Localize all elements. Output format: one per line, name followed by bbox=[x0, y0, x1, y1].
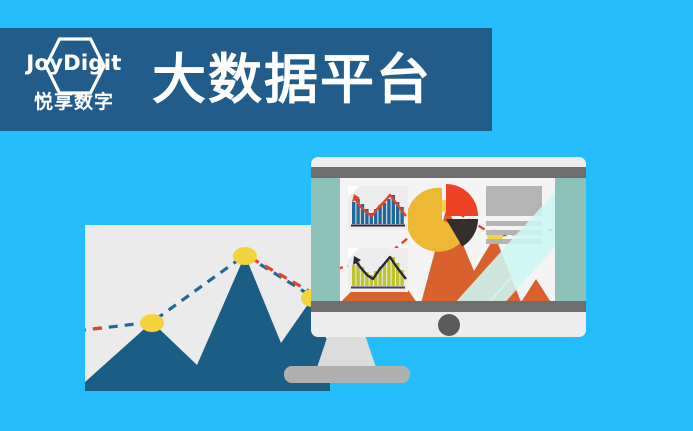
monitor-top-bar bbox=[311, 167, 586, 178]
desktop-monitor bbox=[311, 157, 586, 337]
axis-line-olive bbox=[351, 287, 405, 289]
bar-line-card-olive bbox=[348, 248, 408, 292]
card-fold-corner bbox=[348, 186, 359, 197]
trend-line-left-red-tail-a bbox=[85, 328, 101, 331]
screen-side-panel-right bbox=[555, 178, 586, 307]
axis-line-blue bbox=[351, 225, 405, 227]
placeholder-line-1 bbox=[486, 221, 542, 226]
document-placeholder bbox=[486, 186, 542, 244]
data-marker-left-1 bbox=[140, 314, 164, 332]
brand-logo: JoyDigit 悦享数字 bbox=[14, 37, 134, 123]
logo-subtitle: 悦享数字 bbox=[14, 87, 134, 114]
logo-wordmark: JoyDigit bbox=[14, 51, 134, 75]
monitor-power-button[interactable] bbox=[438, 314, 460, 336]
screen-content bbox=[340, 178, 555, 307]
trend-line-left bbox=[85, 255, 330, 331]
monitor-screen bbox=[311, 178, 586, 307]
card-fold-corner bbox=[348, 248, 359, 259]
data-marker-left-2 bbox=[233, 247, 257, 265]
illustration-canvas: JoyDigit 悦享数字 大数据平台 bbox=[0, 0, 693, 431]
pie-slice-red bbox=[446, 184, 478, 216]
monitor-stand-base bbox=[284, 366, 410, 383]
bar-line-card-blue bbox=[348, 186, 408, 230]
page-title: 大数据平台 bbox=[152, 53, 432, 107]
placeholder-line-2 bbox=[486, 230, 542, 235]
title-banner: JoyDigit 悦享数字 大数据平台 bbox=[0, 28, 492, 131]
pie-chart bbox=[408, 184, 484, 256]
placeholder-block bbox=[486, 186, 542, 216]
placeholder-line-3 bbox=[486, 239, 542, 244]
screen-side-panel-left bbox=[311, 178, 340, 307]
monitor-bottom-bar bbox=[311, 301, 586, 312]
